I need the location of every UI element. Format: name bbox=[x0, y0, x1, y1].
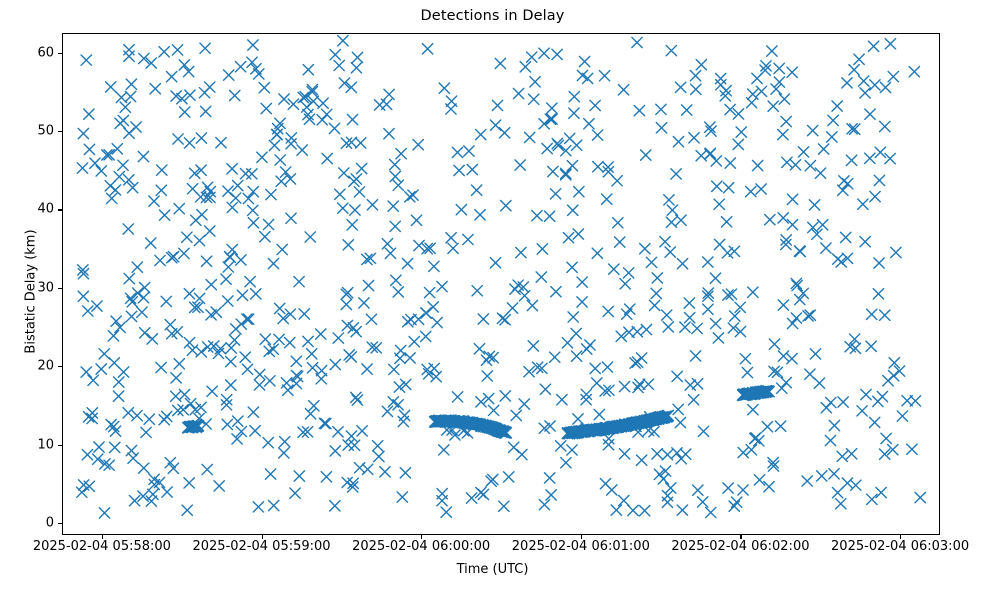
x-tick-mark bbox=[102, 535, 103, 539]
y-tick-label: 20 bbox=[6, 359, 54, 374]
x-tick-mark bbox=[900, 535, 901, 539]
y-tick-label: 40 bbox=[6, 202, 54, 217]
y-tick-mark bbox=[58, 445, 62, 446]
x-tick-label: 2025-02-04 06:03:00 bbox=[831, 539, 969, 554]
y-tick-label: 0 bbox=[6, 516, 54, 531]
y-tick-mark bbox=[58, 523, 62, 524]
y-tick-mark bbox=[58, 53, 62, 54]
x-tick-label: 2025-02-04 06:01:00 bbox=[512, 539, 650, 554]
x-tick-label: 2025-02-04 06:00:00 bbox=[352, 539, 490, 554]
x-axis-label: Time (UTC) bbox=[0, 562, 985, 577]
matplotlib-figure: Detections in Delay Bistatic Delay (km) … bbox=[0, 0, 985, 590]
x-tick-label: 2025-02-04 05:59:00 bbox=[192, 539, 330, 554]
x-tick-mark bbox=[262, 535, 263, 539]
x-tick-mark bbox=[740, 535, 741, 539]
y-tick-label: 50 bbox=[6, 124, 54, 139]
x-tick-mark bbox=[581, 535, 582, 539]
y-axis-tick-labels: 0102030405060 bbox=[0, 33, 54, 535]
plot-area bbox=[62, 33, 940, 535]
page-title: Detections in Delay bbox=[0, 8, 985, 24]
scatter-plot-canvas bbox=[63, 34, 939, 534]
y-tick-label: 10 bbox=[6, 437, 54, 452]
x-tick-mark bbox=[421, 535, 422, 539]
y-tick-label: 60 bbox=[6, 45, 54, 60]
x-tick-label: 2025-02-04 06:02:00 bbox=[671, 539, 809, 554]
y-tick-mark bbox=[58, 288, 62, 289]
x-axis-tick-labels: 2025-02-04 05:58:002025-02-04 05:59:0020… bbox=[0, 539, 985, 561]
x-tick-label: 2025-02-04 05:58:00 bbox=[33, 539, 171, 554]
marker-group bbox=[77, 36, 926, 519]
y-tick-mark bbox=[58, 366, 62, 367]
y-tick-mark bbox=[58, 209, 62, 210]
y-tick-label: 30 bbox=[6, 280, 54, 295]
y-tick-mark bbox=[58, 131, 62, 132]
